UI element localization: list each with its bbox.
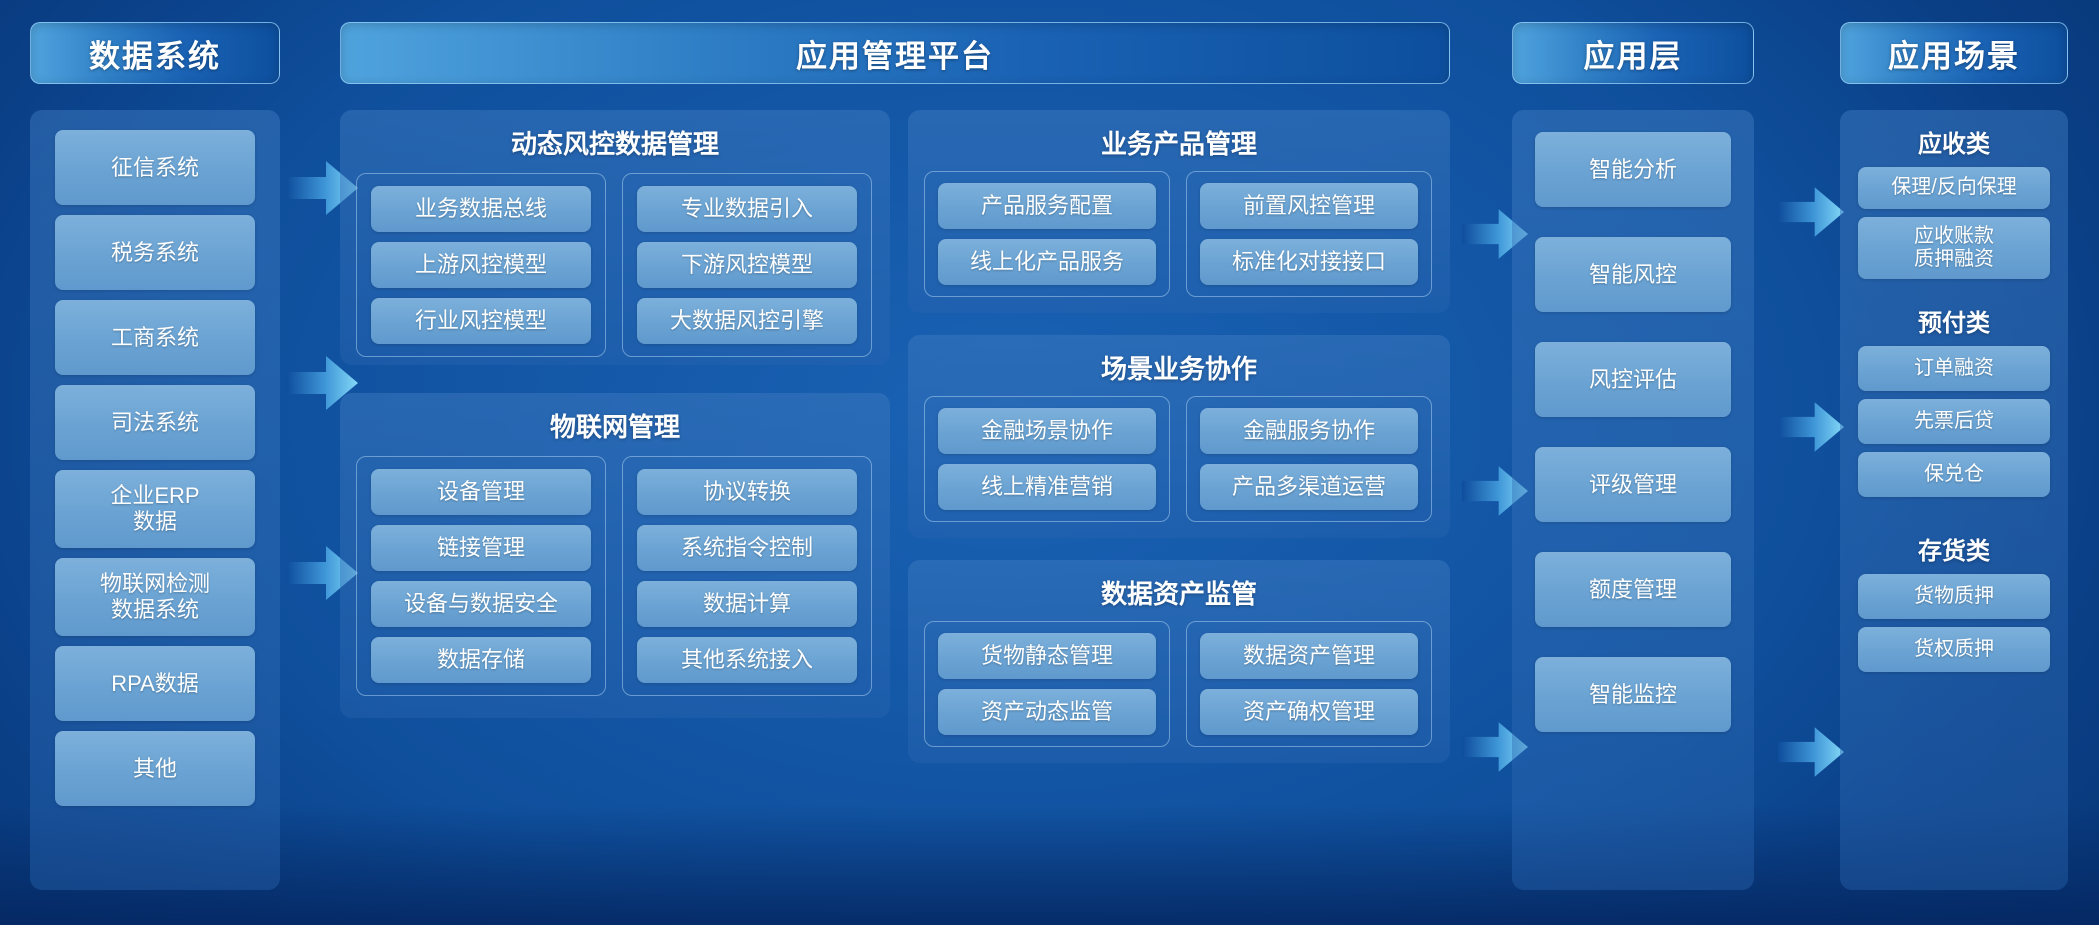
group-iot-management: 物联网管理 设备管理 链接管理 设备与数据安全 数据存储 协议转换 系统指令控制… — [340, 393, 890, 718]
column-data-system: 数据系统 征信系统 税务系统 工商系统 司法系统 企业ERP数据 物联网检测数据… — [30, 22, 280, 890]
list-item[interactable]: 智能监控 — [1535, 657, 1731, 732]
application-layer-panel: 智能分析 智能风控 风控评估 评级管理 额度管理 智能监控 — [1512, 110, 1754, 890]
list-item[interactable]: 金融服务协作 — [1200, 408, 1418, 454]
list-item[interactable]: 物联网检测数据系统 — [55, 558, 255, 636]
scenario-group-title: 应收类 — [1858, 124, 2050, 159]
group-title: 动态风控数据管理 — [356, 124, 874, 161]
chip-label: 其他系统接入 — [681, 647, 813, 673]
list-item[interactable]: 税务系统 — [55, 215, 255, 290]
list-item[interactable]: 资产动态监管 — [938, 689, 1156, 735]
chip-label: 大数据风控引擎 — [670, 308, 824, 334]
chip-label: 物联网检测数据系统 — [100, 571, 210, 622]
list-item[interactable]: 订单融资 — [1858, 346, 2050, 391]
column-application-scenarios: 应用场景 应收类 保理/反向保理 应收账款质押融资 预付类 订单融资 先票后贷 … — [1840, 22, 2068, 890]
chip-label: 链接管理 — [437, 535, 525, 561]
chip-label: 系统指令控制 — [681, 535, 813, 561]
subgroup-right: 协议转换 系统指令控制 数据计算 其他系统接入 — [622, 456, 872, 696]
subgroup-right: 专业数据引入 下游风控模型 大数据风控引擎 — [622, 173, 872, 357]
chip-label: 工商系统 — [111, 325, 199, 351]
list-item[interactable]: 其他系统接入 — [637, 637, 857, 683]
list-item[interactable]: 评级管理 — [1535, 447, 1731, 522]
chip-label: 业务数据总线 — [415, 196, 547, 222]
list-item[interactable]: 应收账款质押融资 — [1858, 217, 2050, 279]
chip-label: 数据计算 — [703, 591, 791, 617]
diagram-canvas: 数据系统 征信系统 税务系统 工商系统 司法系统 企业ERP数据 物联网检测数据… — [0, 0, 2099, 950]
list-item[interactable]: 业务数据总线 — [371, 186, 591, 232]
column-application-layer: 应用层 智能分析 智能风控 风控评估 评级管理 额度管理 智能监控 — [1512, 22, 1754, 890]
column-header-label: 应用层 — [1584, 31, 1683, 76]
list-item[interactable]: 货权质押 — [1858, 627, 2050, 672]
chip-label: 金融服务协作 — [1243, 418, 1375, 444]
chip-label: 司法系统 — [111, 410, 199, 436]
chip-label: 前置风控管理 — [1243, 193, 1375, 219]
chip-label: 订单融资 — [1914, 357, 1994, 380]
chip-label: 产品服务配置 — [981, 193, 1113, 219]
chip-label: 保理/反向保理 — [1891, 176, 2017, 199]
list-item[interactable]: 先票后贷 — [1858, 399, 2050, 444]
chip-label: 数据存储 — [437, 647, 525, 673]
list-item[interactable]: 系统指令控制 — [637, 525, 857, 571]
group-title: 数据资产监管 — [924, 574, 1434, 611]
chip-label: 线上精准营销 — [981, 474, 1113, 500]
list-item[interactable]: 金融场景协作 — [938, 408, 1156, 454]
chip-label: 下游风控模型 — [681, 252, 813, 278]
right-arrow-icon — [1778, 725, 1844, 779]
chip-label: 线上化产品服务 — [970, 249, 1124, 275]
chip-label: RPA数据 — [111, 671, 199, 697]
list-item[interactable]: 货物质押 — [1858, 574, 2050, 619]
chip-label: 企业ERP数据 — [110, 483, 199, 534]
scenario-group-title: 存货类 — [1858, 531, 2050, 566]
chip-label: 风控评估 — [1589, 367, 1677, 393]
chip-label: 资产确权管理 — [1243, 699, 1375, 725]
subgroup-right: 金融服务协作 产品多渠道运营 — [1186, 396, 1432, 522]
subgroup-left: 货物静态管理 资产动态监管 — [924, 621, 1170, 747]
list-item[interactable]: 智能分析 — [1535, 132, 1731, 207]
chip-label: 资产动态监管 — [981, 699, 1113, 725]
group-data-asset-supervision: 数据资产监管 货物静态管理 资产动态监管 数据资产管理 资产确权管理 — [908, 560, 1450, 763]
list-item[interactable]: 数据计算 — [637, 581, 857, 627]
list-item[interactable]: 数据资产管理 — [1200, 633, 1418, 679]
chip-label: 上游风控模型 — [415, 252, 547, 278]
group-scenario-collaboration: 场景业务协作 金融场景协作 线上精准营销 金融服务协作 产品多渠道运营 — [908, 335, 1450, 538]
column-platform: 应用管理平台 动态风控数据管理 业务数据总线 上游风控模型 行业风控模型 专业数… — [340, 22, 1450, 84]
list-item[interactable]: 专业数据引入 — [637, 186, 857, 232]
list-item[interactable]: 保兑仓 — [1858, 452, 2050, 497]
group-title: 物联网管理 — [356, 407, 874, 444]
subgroup-left: 业务数据总线 上游风控模型 行业风控模型 — [356, 173, 606, 357]
chip-label: 先票后贷 — [1914, 410, 1994, 433]
list-item[interactable]: 线上化产品服务 — [938, 239, 1156, 285]
chip-label: 设备管理 — [437, 479, 525, 505]
list-item[interactable]: 工商系统 — [55, 300, 255, 375]
column-header-application-layer: 应用层 — [1512, 22, 1754, 84]
list-item[interactable]: 链接管理 — [371, 525, 591, 571]
column-header-platform: 应用管理平台 — [340, 22, 1450, 84]
chip-label: 额度管理 — [1589, 577, 1677, 603]
subgroup-left: 金融场景协作 线上精准营销 — [924, 396, 1170, 522]
list-item[interactable]: 大数据风控引擎 — [637, 298, 857, 344]
chip-label: 应收账款质押融资 — [1914, 225, 1994, 271]
list-item[interactable]: 司法系统 — [55, 385, 255, 460]
chip-label: 设备与数据安全 — [404, 591, 558, 617]
chip-label: 其他 — [133, 756, 177, 782]
subgroup-left: 产品服务配置 线上化产品服务 — [924, 171, 1170, 297]
chip-label: 智能风控 — [1589, 262, 1677, 288]
platform-right-stack: 业务产品管理 产品服务配置 线上化产品服务 前置风控管理 标准化对接接口 场景业… — [908, 110, 1450, 763]
list-item[interactable]: 资产确权管理 — [1200, 689, 1418, 735]
list-item[interactable]: 数据存储 — [371, 637, 591, 683]
list-item[interactable]: 风控评估 — [1535, 342, 1731, 417]
list-item[interactable]: 上游风控模型 — [371, 242, 591, 288]
group-title: 业务产品管理 — [924, 124, 1434, 161]
chip-label: 数据资产管理 — [1243, 643, 1375, 669]
list-item[interactable]: 货物静态管理 — [938, 633, 1156, 679]
chip-label: 金融场景协作 — [981, 418, 1113, 444]
list-item[interactable]: RPA数据 — [55, 646, 255, 721]
list-item[interactable]: 下游风控模型 — [637, 242, 857, 288]
list-item[interactable]: 协议转换 — [637, 469, 857, 515]
scenario-group-receivables: 应收类 保理/反向保理 应收账款质押融资 — [1858, 124, 2050, 279]
list-item[interactable]: 智能风控 — [1535, 237, 1731, 312]
chip-label: 智能监控 — [1589, 682, 1677, 708]
list-item[interactable]: 保理/反向保理 — [1858, 167, 2050, 209]
list-item[interactable]: 企业ERP数据 — [55, 470, 255, 548]
subgroup-right: 数据资产管理 资产确权管理 — [1186, 621, 1432, 747]
chip-label: 评级管理 — [1589, 472, 1677, 498]
list-item[interactable]: 标准化对接接口 — [1200, 239, 1418, 285]
list-item[interactable]: 行业风控模型 — [371, 298, 591, 344]
scenario-group-prepaid: 预付类 订单融资 先票后贷 保兑仓 — [1858, 303, 2050, 497]
chip-label: 行业风控模型 — [415, 308, 547, 334]
scenario-group-title: 预付类 — [1858, 303, 2050, 338]
right-arrow-icon — [1778, 400, 1844, 454]
platform-left-stack: 动态风控数据管理 业务数据总线 上游风控模型 行业风控模型 专业数据引入 下游风… — [340, 110, 890, 718]
column-header-label: 应用管理平台 — [796, 31, 994, 76]
list-item[interactable]: 其他 — [55, 731, 255, 806]
chip-label: 保兑仓 — [1924, 463, 1984, 486]
chip-label: 货物静态管理 — [981, 643, 1113, 669]
list-item[interactable]: 设备与数据安全 — [371, 581, 591, 627]
scenario-group-inventory: 存货类 货物质押 货权质押 — [1858, 531, 2050, 672]
chip-label: 专业数据引入 — [681, 196, 813, 222]
subgroup-left: 设备管理 链接管理 设备与数据安全 数据存储 — [356, 456, 606, 696]
column-header-label: 应用场景 — [1888, 31, 2020, 76]
chip-label: 协议转换 — [703, 479, 791, 505]
list-item[interactable]: 产品服务配置 — [938, 183, 1156, 229]
application-scenarios-panel: 应收类 保理/反向保理 应收账款质押融资 预付类 订单融资 先票后贷 保兑仓 存… — [1840, 110, 2068, 890]
list-item[interactable]: 额度管理 — [1535, 552, 1731, 627]
list-item[interactable]: 设备管理 — [371, 469, 591, 515]
chip-label: 税务系统 — [111, 240, 199, 266]
column-header-application-scenarios: 应用场景 — [1840, 22, 2068, 84]
chip-label: 标准化对接接口 — [1232, 249, 1386, 275]
chip-label: 征信系统 — [111, 155, 199, 181]
chip-label: 产品多渠道运营 — [1232, 474, 1386, 500]
group-title: 场景业务协作 — [924, 349, 1434, 386]
chip-label: 货权质押 — [1914, 638, 1994, 661]
group-dynamic-risk-data: 动态风控数据管理 业务数据总线 上游风控模型 行业风控模型 专业数据引入 下游风… — [340, 110, 890, 365]
chip-label: 智能分析 — [1589, 157, 1677, 183]
chip-label: 货物质押 — [1914, 585, 1994, 608]
list-item[interactable]: 线上精准营销 — [938, 464, 1156, 510]
group-business-product: 业务产品管理 产品服务配置 线上化产品服务 前置风控管理 标准化对接接口 — [908, 110, 1450, 313]
list-item[interactable]: 征信系统 — [55, 130, 255, 205]
right-arrow-icon — [1778, 185, 1844, 239]
list-item[interactable]: 前置风控管理 — [1200, 183, 1418, 229]
subgroup-right: 前置风控管理 标准化对接接口 — [1186, 171, 1432, 297]
column-header-label: 数据系统 — [89, 31, 221, 76]
data-system-panel: 征信系统 税务系统 工商系统 司法系统 企业ERP数据 物联网检测数据系统 RP… — [30, 110, 280, 890]
column-header-data-system: 数据系统 — [30, 22, 280, 84]
list-item[interactable]: 产品多渠道运营 — [1200, 464, 1418, 510]
